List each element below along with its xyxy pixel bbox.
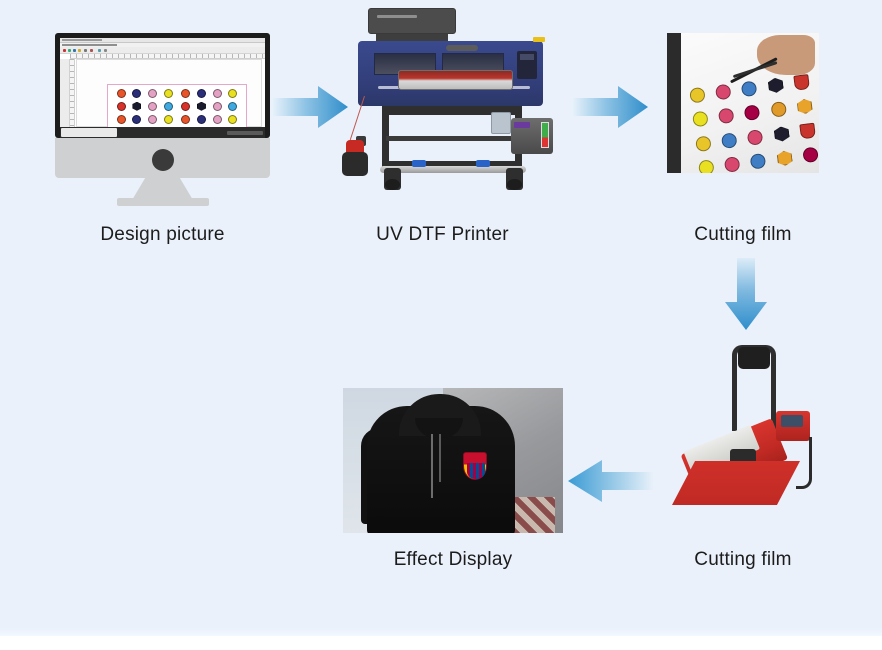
monitor-stand-base xyxy=(117,198,209,206)
applied-crest-badge xyxy=(463,452,487,480)
arrow-cutting-to-press xyxy=(723,258,769,330)
badge-item xyxy=(145,89,160,101)
printed-badge xyxy=(715,83,732,100)
printer-ink-tank xyxy=(491,112,511,134)
monitor-screen xyxy=(60,38,265,138)
printer-top-module xyxy=(368,8,456,34)
printed-badge xyxy=(770,101,787,118)
printer-control-panel[interactable] xyxy=(517,51,537,79)
step-design-picture-visual xyxy=(55,33,270,203)
badge-item xyxy=(179,89,194,101)
badge-item xyxy=(114,102,129,114)
step-uv-dtf-printer-visual xyxy=(340,8,555,198)
toolbar-icon-7 xyxy=(98,49,101,52)
toolbar-icon-5 xyxy=(84,49,87,52)
pump-motor xyxy=(342,152,368,176)
printed-badge xyxy=(744,104,761,121)
badge-item xyxy=(161,89,176,101)
document-page xyxy=(76,59,262,127)
hoodie-drawstring-right xyxy=(439,434,441,482)
badge-item xyxy=(194,102,209,114)
arrow-design-to-printer xyxy=(272,84,348,130)
bottom-white-strip xyxy=(0,636,882,650)
printer-stand-crossbar xyxy=(386,136,518,141)
badge-item xyxy=(210,102,225,114)
printed-badge xyxy=(689,87,706,104)
printed-badge xyxy=(773,126,790,143)
printed-badge xyxy=(718,108,735,125)
badge-item xyxy=(225,115,240,127)
toolbar-icon-6 xyxy=(90,49,93,52)
software-toolbar xyxy=(60,47,265,54)
monitor-bezel xyxy=(55,33,270,138)
printer-pump-unit xyxy=(340,136,376,182)
printer-media-roller xyxy=(398,70,513,90)
badge-item xyxy=(114,89,129,101)
printed-badge xyxy=(794,74,811,91)
toolbar-icon-8 xyxy=(104,49,107,52)
badge-item xyxy=(210,89,225,101)
heat-press-handle-grip xyxy=(738,347,770,369)
monitor-power-dot xyxy=(152,149,174,171)
toolbar-icon-1 xyxy=(63,49,66,52)
printer-caster-right xyxy=(506,168,523,190)
printed-badge xyxy=(800,122,817,139)
badge-item xyxy=(161,115,176,127)
badge-item xyxy=(114,115,129,127)
workflow-diagram: Design picture xyxy=(0,0,882,650)
badge-item xyxy=(130,102,145,114)
printed-badge xyxy=(698,160,715,173)
badge-item xyxy=(225,89,240,101)
badge-item xyxy=(145,102,160,114)
printed-badge xyxy=(747,129,764,146)
caption-effect-display: Effect Display xyxy=(343,549,563,571)
step-effect-display-visual xyxy=(343,388,563,533)
toolbar-icon-2 xyxy=(68,49,71,52)
badge-item xyxy=(194,115,209,127)
badge-item xyxy=(161,102,176,114)
taskbar-start-button xyxy=(61,128,117,137)
step-cutting-film-visual xyxy=(667,33,819,173)
badge-item xyxy=(179,102,194,114)
toolbar-icon-4 xyxy=(78,49,81,52)
badge-item xyxy=(130,89,145,101)
badge-item xyxy=(130,115,145,127)
badge-item xyxy=(145,115,160,127)
printed-badge xyxy=(695,135,712,152)
printer-caster-left xyxy=(384,168,401,190)
toolbar-icon-3 xyxy=(73,49,76,52)
printed-badge xyxy=(721,132,738,149)
printed-badge xyxy=(767,77,784,94)
tool-palette xyxy=(60,59,70,127)
hand xyxy=(757,35,815,75)
printer-lid-handle xyxy=(446,45,478,51)
caption-cutting-film-bottom: Cutting film xyxy=(667,549,819,571)
badge-item xyxy=(194,89,209,101)
taskbar-tray xyxy=(227,131,263,135)
caption-uv-dtf-printer: UV DTF Printer xyxy=(335,224,550,246)
hoodie-drawstring-left xyxy=(431,434,433,498)
bottom-fade xyxy=(0,628,882,636)
heat-press-power-cord xyxy=(796,437,812,489)
caption-cutting-film-top: Cutting film xyxy=(667,224,819,246)
printed-badge-rows xyxy=(684,69,819,173)
printer-status-light xyxy=(533,37,545,42)
arrow-printer-to-cutting xyxy=(572,84,648,130)
printed-badge xyxy=(803,147,819,164)
software-status-bar xyxy=(60,127,265,138)
step-heat-press-visual xyxy=(672,345,822,510)
badge-item xyxy=(210,115,225,127)
badge-item xyxy=(225,102,240,114)
badge-item xyxy=(179,115,194,127)
printed-badge xyxy=(750,153,767,170)
printer-axle-clamp-right xyxy=(476,160,490,167)
printed-badge xyxy=(692,111,709,128)
printer-bottom-axle xyxy=(380,166,526,173)
printed-badge xyxy=(741,80,758,97)
printed-badge xyxy=(776,150,793,167)
printer-axle-clamp-left xyxy=(412,160,426,167)
printed-badge xyxy=(797,98,814,115)
printer-ink-supply-box xyxy=(511,118,553,154)
arrow-press-to-effect xyxy=(568,458,654,504)
vertical-ruler xyxy=(70,59,75,127)
caption-design-picture: Design picture xyxy=(55,224,270,246)
printed-badge xyxy=(724,156,741,173)
